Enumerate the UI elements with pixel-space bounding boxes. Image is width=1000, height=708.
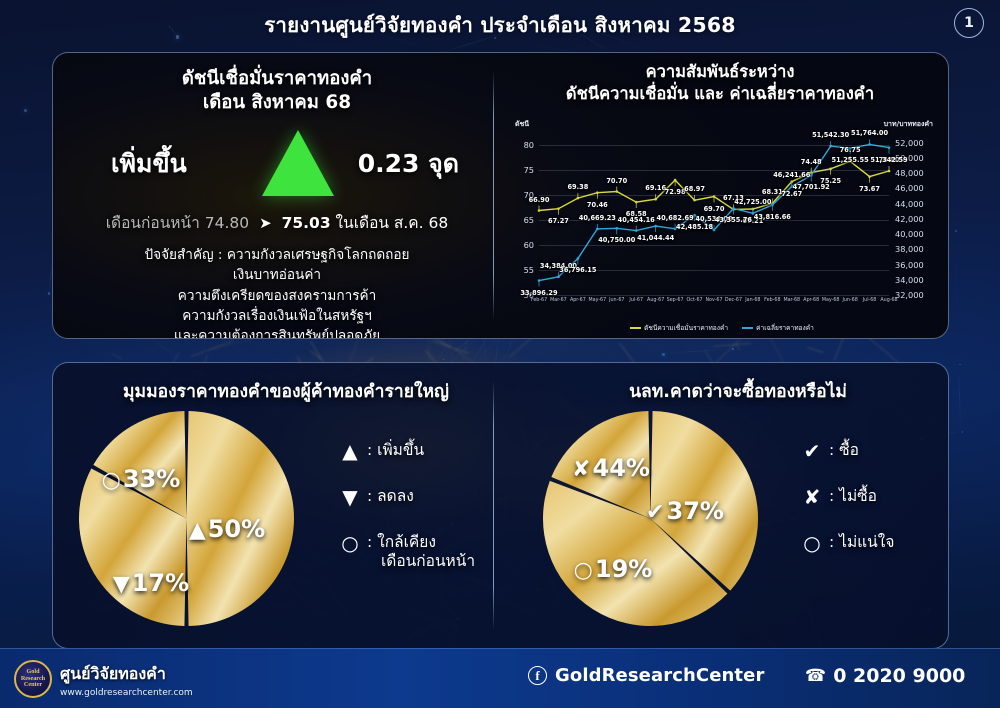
legend-key-row: ▲: เพิ่มขึ้น	[333, 441, 475, 461]
chart-data-label: 69.16	[645, 184, 666, 192]
circle-icon: ○	[102, 468, 121, 493]
check-icon: ✔	[795, 441, 829, 461]
network-node	[955, 230, 957, 232]
investor-intent-block: นลท.คาดว่าจะซื้อทองหรือไม่ ✔37%✘44%○19% …	[523, 369, 949, 644]
chart-data-label: 33,896.29	[520, 289, 557, 297]
chart-x-tick: Sep-67	[667, 298, 684, 303]
chart-y-tick-right: 46,000	[895, 183, 931, 193]
chart-y-tick-left: 55	[510, 265, 534, 275]
legend-key-line: : ซื้อ	[829, 441, 859, 460]
chart-data-label: 51,255.55	[832, 156, 869, 164]
chart-x-tick: Jun-68	[842, 298, 857, 303]
legend-key-label: : ลดลง	[367, 487, 414, 506]
chart-x-tick: Jul-67	[629, 298, 643, 303]
facebook-icon: f	[528, 666, 547, 685]
chart-x-tick: Aug-67	[647, 298, 664, 303]
confidence-title-line1: ดัชนีเชื่อมั่นราคาทองคำ	[67, 67, 487, 91]
pie-slice-value: 37%	[666, 497, 723, 525]
legend-key-line: : ไม่ซื้อ	[829, 487, 877, 506]
pie-slice-value: 17%	[132, 569, 189, 597]
circle-icon: ○	[574, 558, 593, 583]
key-factor-item: ปัจจัยสำคัญ : ความกังวลเศรษฐกิจโลกถดถอย	[67, 245, 487, 265]
confidence-direction-label: เพิ่มขึ้น	[111, 144, 187, 184]
legend-key-label: : ไม่แน่ใจ	[829, 533, 894, 552]
chart-plot-area: 5055606570758032,00034,00036,00038,00040…	[539, 135, 889, 295]
investor-legend-key: ✔: ซื้อ✘: ไม่ซื้อ○: ไม่แน่ใจ	[795, 441, 894, 579]
pie-slice-value: 33%	[123, 465, 180, 493]
key-factor-item: ความกังวลเรื่องเงินเฟ้อในสหรัฐฯ	[67, 306, 487, 326]
chart-gridline	[539, 245, 889, 246]
chart-data-label: 69.38	[567, 183, 588, 191]
phone-icon: ☎	[805, 666, 826, 686]
network-edge	[954, 230, 959, 364]
network-edge	[662, 348, 732, 354]
confidence-comparison-row: เดือนก่อนหน้า 74.80 ➤ 75.03 ในเดือน ส.ค.…	[67, 210, 487, 235]
investor-panel-title: นลท.คาดว่าจะซื้อทองหรือไม่	[523, 369, 949, 405]
legend-key-line: : ใกล้เคียง	[367, 533, 475, 552]
chart-left-axis-title: ดัชนี	[515, 119, 529, 130]
chart-legend: ดัชนีความเชื่อมั่นราคาทองคำค่าเฉลี่ยราคา…	[509, 322, 935, 333]
dealer-outlook-block: มุมมองราคาทองคำของผู้ค้าทองคำรายใหญ่ ▲50…	[71, 369, 501, 644]
chart-y-tick-left: 60	[510, 240, 534, 250]
current-month-value: 75.03	[282, 214, 331, 232]
network-edge	[958, 364, 961, 431]
chart-data-label: 40,750.00	[598, 236, 635, 244]
chart-data-label: 40,669.23	[579, 214, 616, 222]
chart-x-tick: May-68	[822, 298, 840, 303]
chart-data-label: 70.46	[587, 201, 608, 209]
chart-x-tick: May-67	[588, 298, 606, 303]
legend-key-row: ○: ใกล้เคียงเดือนก่อนหน้า	[333, 533, 475, 572]
facebook-link[interactable]: f GoldResearchCenter	[528, 665, 764, 686]
chart-data-label: 67.27	[548, 217, 569, 225]
top-panel-divider	[493, 71, 494, 320]
chart-data-label: 40,454.16	[618, 216, 655, 224]
pie-slice-label: ▼17%	[113, 569, 189, 597]
legend-key-label: : ไม่ซื้อ	[829, 487, 877, 506]
legend-key-label: : ซื้อ	[829, 441, 859, 460]
chart-data-label: 40,682.69	[657, 214, 694, 222]
network-node	[959, 364, 960, 365]
legend-key-row: ○: ไม่แน่ใจ	[795, 533, 894, 553]
chart-y-tick-right: 34,000	[895, 275, 931, 285]
legend-swatch	[742, 327, 753, 329]
chart-y-tick-right: 48,000	[895, 168, 931, 178]
facebook-name: GoldResearchCenter	[555, 665, 764, 686]
chart-x-tick: Feb-68	[764, 298, 780, 303]
chart-y-tick-right: 36,000	[895, 260, 931, 270]
chart-y-tick-right: 40,000	[895, 229, 931, 239]
investor-pie-chart: ✔37%✘44%○19%	[543, 411, 758, 626]
chart-gridline	[539, 195, 889, 196]
chart-data-label: 46,241.66	[773, 171, 810, 179]
legend-key-line: : เพิ่มขึ้น	[367, 441, 424, 460]
up-arrow-icon: ▲	[189, 518, 206, 543]
chart-y-tick-right: 38,000	[895, 244, 931, 254]
cross-icon: ✘	[795, 487, 829, 507]
network-node	[962, 431, 964, 433]
chart-x-tick: Nov-67	[705, 298, 722, 303]
website-url[interactable]: www.goldresearchcenter.com	[60, 688, 193, 698]
confidence-title-line2: เดือน สิงหาคม 68	[67, 91, 487, 115]
chart-gridline	[539, 170, 889, 171]
key-factors-list: ปัจจัยสำคัญ : ความกังวลเศรษฐกิจโลกถดถอยเ…	[67, 245, 487, 339]
chart-x-tick: Mar-67	[550, 298, 567, 303]
chart-x-tick: Oct-67	[686, 298, 702, 303]
key-factor-item: และความต้องการสินทรัพย์ปลอดภัย	[67, 326, 487, 339]
legend-label: ดัชนีความเชื่อมั่นราคาทองคำ	[644, 324, 728, 332]
dealer-pie-chart: ▲50%○33%▼17%	[79, 411, 294, 626]
chart-data-label: 41,044.44	[637, 234, 674, 242]
chart-y-tick-right: 44,000	[895, 199, 931, 209]
chart-y-tick-right: 32,000	[895, 290, 931, 300]
legend-key-line: เดือนก่อนหน้า	[367, 552, 475, 571]
logo: Gold Research Center	[14, 660, 52, 698]
up-arrow-icon	[262, 130, 334, 196]
phone-block[interactable]: ☎ 0 2020 9000	[805, 665, 965, 687]
brand-block: ศูนย์วิจัยทองคำ www.goldresearchcenter.c…	[60, 662, 193, 698]
chart-y-tick-right: 52,000	[895, 138, 931, 148]
chart-data-label: 73.67	[859, 185, 880, 193]
circle-icon: ○	[795, 533, 829, 553]
current-month-suffix: ในเดือน ส.ค. 68	[336, 214, 449, 232]
chart-title-line2: ดัชนีความเชื่อมั่น และ ค่าเฉลี่ยราคาทองค…	[505, 83, 935, 105]
chart-legend-item: ดัชนีความเชื่อมั่นราคาทองคำ	[630, 322, 728, 333]
chart-gridline	[539, 145, 889, 146]
chart-x-tick: Jan-68	[745, 298, 760, 303]
chart-data-label: 74.48	[801, 158, 822, 166]
legend-swatch	[630, 327, 641, 329]
top-panel: ดัชนีเชื่อมั่นราคาทองคำ เดือน สิงหาคม 68…	[52, 52, 949, 339]
pie-slice-label: ○19%	[574, 555, 653, 583]
chart-right-axis-title: บาท/บาททองคำ	[884, 119, 933, 130]
confidence-index-block: ดัชนีเชื่อมั่นราคาทองคำ เดือน สิงหาคม 68…	[67, 61, 487, 336]
chart-y-tick-left: 80	[510, 140, 534, 150]
confidence-change-value: 0.23 จุด	[358, 144, 459, 184]
chart-data-label: 51,342.59	[870, 156, 907, 164]
legend-key-label: : ใกล้เคียงเดือนก่อนหน้า	[367, 533, 475, 572]
up-arrow-icon: ▲	[333, 441, 367, 461]
check-icon: ✔	[646, 500, 664, 525]
pie-slice-label: ○33%	[102, 465, 181, 493]
correlation-chart: ดัชนี บาท/บาททองคำ 5055606570758032,0003…	[509, 119, 935, 331]
cross-icon: ✘	[572, 457, 590, 482]
chart-title-line1: ความสัมพันธ์ระหว่าง	[505, 61, 935, 83]
chart-data-label: 43,355.76	[715, 216, 752, 224]
confidence-change-row: เพิ่มขึ้น 0.23 จุด	[67, 122, 487, 208]
pie-slice-value: 19%	[595, 555, 652, 583]
chart-data-label: 51,764.00	[851, 129, 888, 137]
chart-x-tick: Feb-67	[531, 298, 547, 303]
chart-data-label: 36,796.15	[559, 266, 596, 274]
chart-x-tick: Mar-68	[783, 298, 800, 303]
previous-month-value: 74.80	[205, 214, 249, 232]
chart-data-label: 76.75	[840, 146, 861, 154]
chevron-right-icon: ➤	[254, 214, 277, 232]
chart-y-tick-right: 42,000	[895, 214, 931, 224]
chart-data-label: 66.90	[529, 196, 550, 204]
phone-number: 0 2020 9000	[833, 665, 965, 687]
dealer-legend-key: ▲: เพิ่มขึ้น▼: ลดลง○: ใกล้เคียงเดือนก่อน…	[333, 441, 475, 598]
legend-key-label: : เพิ่มขึ้น	[367, 441, 424, 460]
chart-data-label: 51,542.30	[812, 131, 849, 139]
chart-x-tick: Jul-68	[863, 298, 877, 303]
chart-x-tick: Apr-68	[803, 298, 819, 303]
pie-slice-label: ✘44%	[572, 454, 650, 482]
key-factor-item: เงินบาทอ่อนค่า	[67, 265, 487, 285]
legend-key-row: ✔: ซื้อ	[795, 441, 894, 461]
down-arrow-icon: ▼	[113, 572, 130, 597]
chart-data-label: 42,485.18	[676, 223, 713, 231]
bottom-panel: มุมมองราคาทองคำของผู้ค้าทองคำรายใหญ่ ▲50…	[52, 362, 949, 649]
chart-y-tick-left: 75	[510, 165, 534, 175]
legend-key-row: ▼: ลดลง	[333, 487, 475, 507]
pie-slice-label: ✔37%	[646, 497, 724, 525]
chart-series-line	[539, 144, 889, 280]
chart-data-label: 68.31	[762, 188, 783, 196]
footer: Gold Research Center ศูนย์วิจัยทองคำ www…	[0, 648, 1000, 708]
legend-key-line: : ลดลง	[367, 487, 414, 506]
chart-data-label: 72.98	[665, 188, 686, 196]
pie-slice-value: 50%	[208, 515, 265, 543]
key-factor-item: ความตึงเครียดของสงครามการค้า	[67, 286, 487, 306]
page-number-badge: 1	[954, 8, 984, 38]
chart-x-tick: Apr-67	[570, 298, 586, 303]
chart-data-label: 47,701.92	[793, 183, 830, 191]
chart-x-tick: Aug-68	[880, 298, 897, 303]
chart-gridline	[539, 295, 889, 296]
previous-month-label: เดือนก่อนหน้า	[106, 214, 200, 232]
dealer-panel-title: มุมมองราคาทองคำของผู้ค้าทองคำรายใหญ่	[71, 369, 501, 405]
infographic-root: รายงานศูนย์วิจัยทองคำ ประจำเดือน สิงหาคม…	[0, 0, 1000, 708]
chart-data-label: 70.70	[606, 177, 627, 185]
pie-slice-label: ▲50%	[189, 515, 265, 543]
header: รายงานศูนย์วิจัยทองคำ ประจำเดือน สิงหาคม…	[0, 0, 1000, 48]
circle-icon: ○	[333, 533, 367, 553]
chart-x-tick: Jun-67	[609, 298, 624, 303]
chart-data-label: 68.97	[684, 185, 705, 193]
pie-slice-value: 44%	[592, 454, 649, 482]
correlation-chart-block: ความสัมพันธ์ระหว่าง ดัชนีความเชื่อมั่น แ…	[505, 61, 935, 336]
chart-x-tick: Dec-67	[725, 298, 742, 303]
org-name: ศูนย์วิจัยทองคำ	[60, 662, 193, 687]
chart-data-label: 43,816.66	[754, 213, 791, 221]
legend-key-line: : ไม่แน่ใจ	[829, 533, 894, 552]
legend-key-row: ✘: ไม่ซื้อ	[795, 487, 894, 507]
down-arrow-icon: ▼	[333, 487, 367, 507]
chart-legend-item: ค่าเฉลี่ยราคาทองคำ	[742, 322, 814, 333]
legend-label: ค่าเฉลี่ยราคาทองคำ	[756, 324, 814, 332]
chart-data-label: 42,725.00	[734, 198, 771, 206]
chart-y-tick-left: 65	[510, 215, 534, 225]
chart-data-label: 69.70	[704, 205, 725, 213]
page-title: รายงานศูนย์วิจัยทองคำ ประจำเดือน สิงหาคม…	[0, 9, 1000, 42]
